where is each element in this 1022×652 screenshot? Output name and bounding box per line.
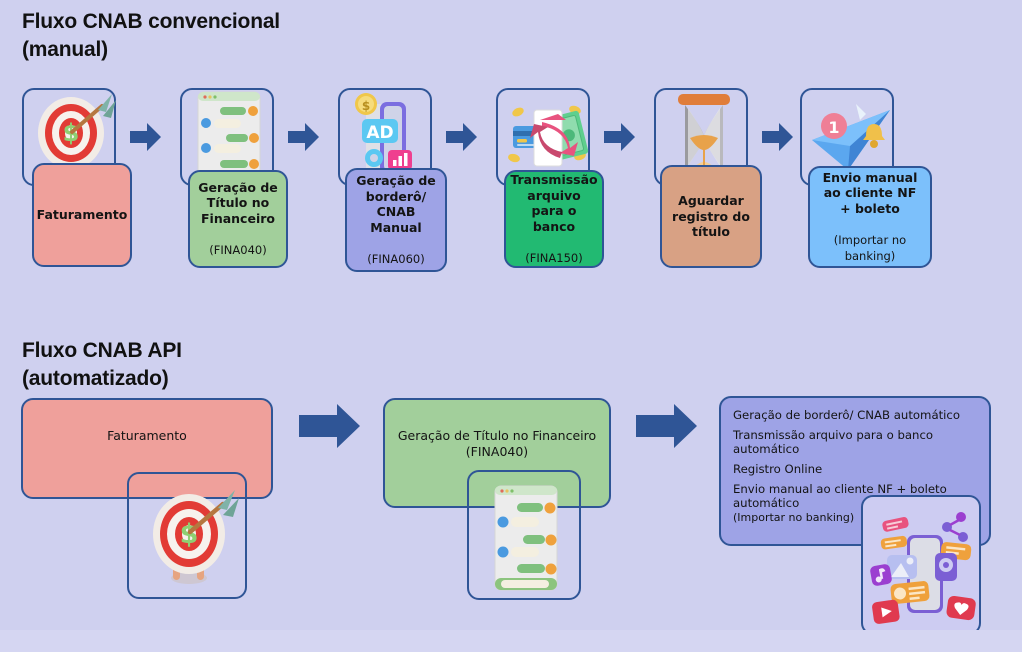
icon-frame-api-summary xyxy=(861,495,981,635)
step-label-4-text: Transmissão arquivo para o banco xyxy=(510,172,597,234)
mobile-chat-icon xyxy=(493,484,559,592)
section-title-manual: Fluxo CNAB convencional (manual) xyxy=(22,8,280,64)
icon-frame-api-step-1: $ xyxy=(127,472,247,599)
target-dollar-icon: $ xyxy=(139,482,239,592)
bottom-band xyxy=(0,630,1022,652)
flow-arrow-3 xyxy=(446,122,478,152)
step-label-5[interactable]: Aguardar registro do título xyxy=(660,165,762,268)
step-label-4-sub: (FINA150) xyxy=(525,251,582,265)
api-summary-line-2: Transmissão arquivo para o banco automát… xyxy=(733,428,977,456)
diagram-canvas: Fluxo CNAB convencional (manual) $ xyxy=(0,0,1022,652)
step-label-2-sub: (FINA040) xyxy=(209,243,266,257)
api-step-1-text: Faturamento xyxy=(107,428,187,444)
section-title-api: Fluxo CNAB API (automatizado) xyxy=(22,337,182,393)
social-phone-icon xyxy=(869,503,977,631)
flow-arrow-2 xyxy=(288,122,320,152)
svg-text:$: $ xyxy=(180,519,199,550)
svg-text:1: 1 xyxy=(828,118,839,137)
step-label-1[interactable]: Faturamento xyxy=(32,163,132,267)
step-label-1-text: Faturamento xyxy=(37,207,128,222)
svg-text:$: $ xyxy=(362,99,370,113)
step-label-6-sub: (Importar no banking) xyxy=(834,233,906,264)
flow-arrow-4 xyxy=(604,122,636,152)
step-label-3[interactable]: Geração de borderô/ CNAB Manual (FINA060… xyxy=(345,168,447,272)
flow-arrow-5 xyxy=(762,122,794,152)
api-step-2-text: Geração de Título no Financeiro (FINA040… xyxy=(398,428,596,460)
api-flow-arrow-2 xyxy=(636,404,698,449)
api-flow-arrow-1 xyxy=(299,404,361,449)
step-label-2[interactable]: Geração de Título no Financeiro (FINA040… xyxy=(188,170,288,268)
step-label-4[interactable]: Transmissão arquivo para o banco (FINA15… xyxy=(504,170,604,268)
step-label-6[interactable]: Envio manual ao cliente NF + boleto (Imp… xyxy=(808,166,932,268)
icon-frame-api-step-2 xyxy=(467,470,581,600)
api-summary-line-1: Geração de borderô/ CNAB automático xyxy=(733,408,977,422)
step-label-2-text: Geração de Título no Financeiro xyxy=(198,180,278,226)
step-label-3-sub: (FINA060) xyxy=(367,252,424,266)
svg-text:$: $ xyxy=(63,119,80,147)
flow-arrow-1 xyxy=(130,122,162,152)
svg-text:AD: AD xyxy=(366,123,393,143)
step-label-5-text: Aguardar registro do título xyxy=(672,193,750,239)
step-label-6-text: Envio manual ao cliente NF + boleto xyxy=(823,170,918,216)
step-label-3-text: Geração de borderô/ CNAB Manual xyxy=(356,173,436,235)
api-summary-line-3: Registro Online xyxy=(733,462,977,476)
